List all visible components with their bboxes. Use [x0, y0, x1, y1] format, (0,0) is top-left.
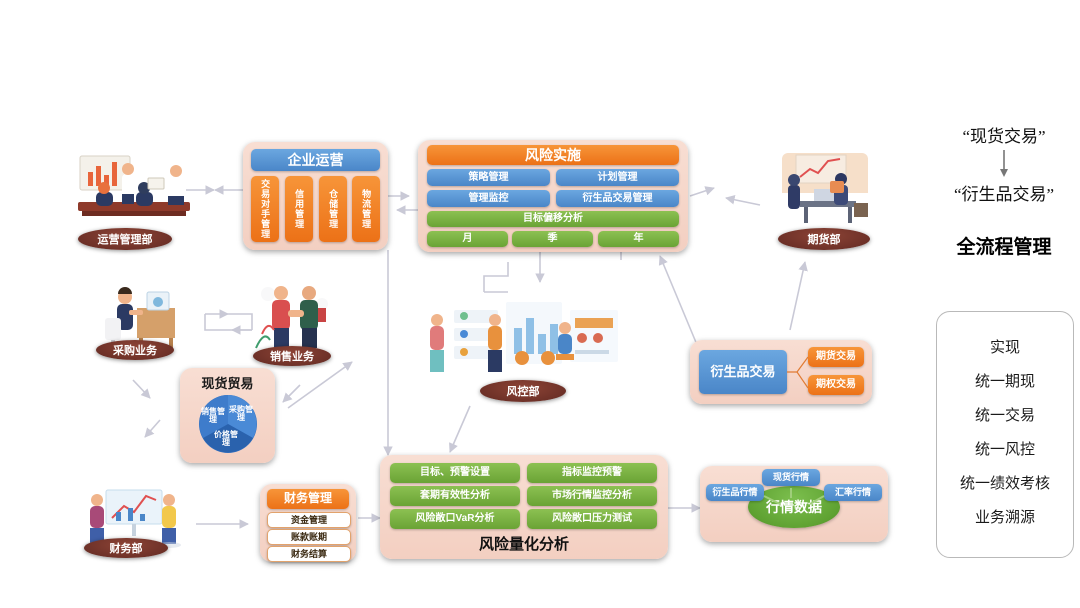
right-list-item-3: 统一风控 — [937, 442, 1073, 457]
dept-label-sales: 销售业务 — [253, 346, 331, 366]
spot-trade-header: 现货贸易 — [180, 373, 275, 392]
enterprise-ops-header: 企业运营 — [251, 149, 380, 171]
right-quote-spot-trading: “现货交易” — [928, 122, 1080, 147]
finance-item-funds[interactable]: 资金管理 — [267, 512, 351, 528]
illustration-operations-meeting — [72, 150, 200, 230]
panel-market-data: 行情数据 衍生品行情 现货行情 汇率行情 — [700, 466, 888, 542]
right-list-item-0: 实现 — [937, 340, 1073, 355]
risk-quant-footer: 风险量化分析 — [380, 533, 668, 554]
right-list-item-2: 统一交易 — [937, 408, 1073, 423]
market-data-spot-quotes[interactable]: 现货行情 — [762, 469, 820, 486]
spot-trade-pie-sales: 销售管理 — [200, 408, 226, 425]
risk-impl-plan-management[interactable]: 计划管理 — [556, 169, 679, 186]
illustration-risk-control-analytics — [420, 292, 630, 384]
right-arrow-down-icon — [928, 150, 1080, 182]
dept-label-risk-control: 风控部 — [480, 380, 566, 402]
right-outcome-box: 实现 统一期现 统一交易 统一风控 统一绩效考核 业务溯源 — [936, 311, 1074, 558]
risk-quant-var-analysis[interactable]: 风险敞口VaR分析 — [390, 509, 520, 529]
right-list-item-1: 统一期现 — [937, 374, 1073, 389]
risk-impl-strategy-management[interactable]: 策略管理 — [427, 169, 550, 186]
right-strong-full-process: 全流程管理 — [928, 232, 1080, 259]
derivatives-item-options[interactable]: 期权交易 — [808, 375, 864, 395]
illustration-futures-office — [770, 145, 880, 233]
risk-impl-period-quarter[interactable]: 季 — [512, 231, 593, 247]
right-list-item-4: 统一绩效考核 — [937, 476, 1073, 491]
derivatives-item-futures[interactable]: 期货交易 — [808, 347, 864, 367]
enterprise-ops-column-credit[interactable]: 信用管理 — [285, 176, 313, 242]
derivatives-header: 衍生品交易 — [699, 350, 787, 394]
market-data-fx-quotes[interactable]: 汇率行情 — [824, 484, 882, 501]
risk-impl-header: 风险实施 — [427, 145, 679, 165]
risk-quant-target-alert-setup[interactable]: 目标、预警设置 — [390, 463, 520, 483]
enterprise-ops-column-counterparty[interactable]: 交易对手管理 — [251, 176, 279, 242]
spot-trade-pie-purchase: 采购管理 — [228, 406, 254, 423]
risk-quant-indicator-monitoring[interactable]: 指标监控预警 — [527, 463, 657, 483]
right-list-item-5: 业务溯源 — [937, 510, 1073, 525]
panel-enterprise-operations: 企业运营 交易对手管理 信用管理 仓储管理 物流管理 — [243, 142, 388, 250]
market-data-derivative-quotes[interactable]: 衍生品行情 — [706, 484, 764, 501]
panel-spot-trade: 现货贸易 销售管理 采购管理 价格管理 — [180, 368, 275, 463]
enterprise-ops-column-logistics[interactable]: 物流管理 — [352, 176, 380, 242]
risk-impl-period-year[interactable]: 年 — [598, 231, 679, 247]
risk-impl-period-month[interactable]: 月 — [427, 231, 508, 247]
finance-item-receivables[interactable]: 账款账期 — [267, 529, 351, 545]
risk-impl-target-deviation-analysis[interactable]: 目标偏移分析 — [427, 211, 679, 227]
panel-risk-quantification: 目标、预警设置 指标监控预警 套期有效性分析 市场行情监控分析 风险敞口VaR分… — [380, 455, 668, 559]
dept-label-purchase: 采购业务 — [96, 340, 174, 360]
panel-derivatives-trade: 衍生品交易 期货交易 期权交易 — [690, 340, 872, 404]
dept-label-finance: 财务部 — [84, 538, 168, 558]
panel-risk-implementation: 风险实施 策略管理 计划管理 管理监控 衍生品交易管理 目标偏移分析 月 季 年 — [418, 140, 688, 252]
risk-impl-management-monitoring[interactable]: 管理监控 — [427, 190, 550, 207]
derivatives-branch-lines — [787, 350, 809, 394]
spot-trade-pie-price: 价格管理 — [213, 431, 239, 448]
dept-label-futures: 期货部 — [778, 228, 870, 250]
risk-impl-derivative-trade-management[interactable]: 衍生品交易管理 — [556, 190, 679, 207]
risk-quant-stress-test[interactable]: 风险敞口压力测试 — [527, 509, 657, 529]
dept-label-operations: 运营管理部 — [78, 228, 172, 250]
finance-header: 财务管理 — [267, 489, 349, 509]
enterprise-ops-column-warehouse[interactable]: 仓储管理 — [319, 176, 347, 242]
right-quote-derivative-trading: “衍生品交易” — [928, 180, 1080, 205]
risk-quant-hedge-effectiveness[interactable]: 套期有效性分析 — [390, 486, 520, 506]
finance-item-settlement[interactable]: 财务结算 — [267, 546, 351, 562]
panel-finance-management: 财务管理 资金管理 账款账期 财务结算 — [260, 484, 356, 562]
illustration-sales-handshake — [248, 278, 340, 352]
risk-quant-market-monitoring[interactable]: 市场行情监控分析 — [527, 486, 657, 506]
